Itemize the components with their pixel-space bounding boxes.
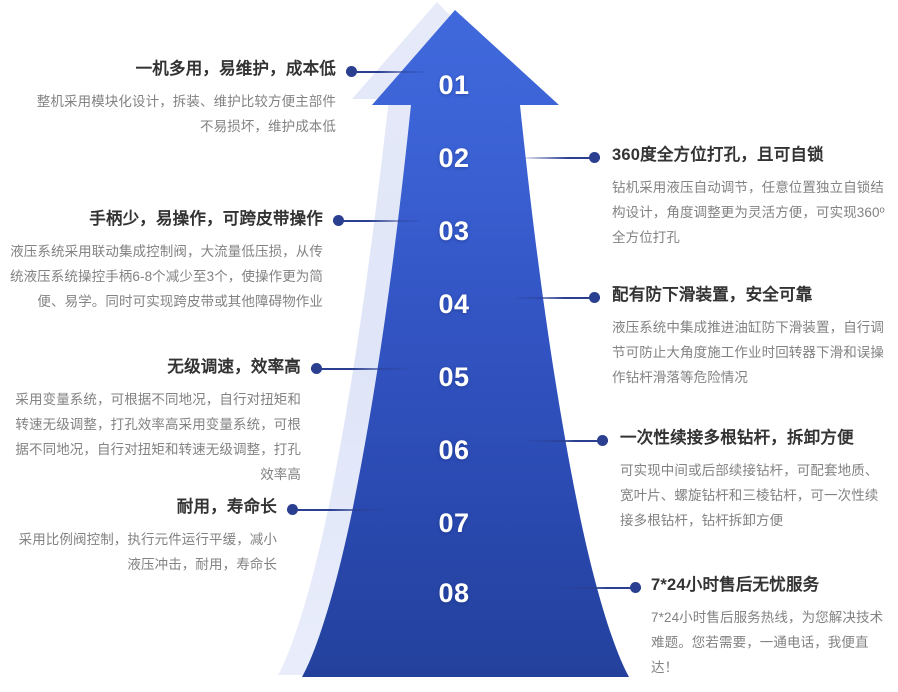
step-number-03: 03 xyxy=(404,216,504,247)
feature-title-08: 7*24小时售后无忧服务 xyxy=(651,574,888,596)
connector-line-01 xyxy=(346,71,424,73)
feature-title-06: 一次性续接多根钻杆，拆卸方便 xyxy=(620,427,888,449)
feature-title-05: 无级调速，效率高 xyxy=(8,356,301,378)
connector-dot-04 xyxy=(589,292,600,303)
connector-step-06 xyxy=(529,435,608,446)
step-number-07: 07 xyxy=(404,508,504,539)
connector-line-03 xyxy=(333,220,419,222)
connector-step-02 xyxy=(524,152,600,163)
feature-block-01: 一机多用，易维护，成本低 整机采用模块化设计，拆装、维护比较方便主部件不易损坏，… xyxy=(30,58,336,139)
connector-dot-03 xyxy=(333,215,344,226)
feature-title-07: 耐用，寿命长 xyxy=(8,496,277,518)
feature-block-05: 无级调速，效率高 采用变量系统，可根据不同地况，自行对扭矩和转速无级调整，打孔效… xyxy=(8,356,301,487)
connector-dot-02 xyxy=(589,152,600,163)
feature-block-02: 360度全方位打孔，且可自锁 钻机采用液压自动调节，任意位置独立自锁结构设计，角… xyxy=(612,144,890,250)
connector-step-04 xyxy=(516,292,600,303)
feature-body-01: 整机采用模块化设计，拆装、维护比较方便主部件不易损坏，维护成本低 xyxy=(30,89,336,139)
connector-step-08 xyxy=(558,582,641,593)
connector-line-08 xyxy=(558,587,641,589)
connector-step-03 xyxy=(333,215,419,226)
connector-line-05 xyxy=(311,368,409,370)
feature-title-02: 360度全方位打孔，且可自锁 xyxy=(612,144,890,166)
feature-body-03: 液压系统采用联动集成控制阀，大流量低压损，从传统液压系统操控手柄6-8个减少至3… xyxy=(8,239,323,314)
connector-dot-07 xyxy=(287,504,298,515)
connector-dot-06 xyxy=(597,435,608,446)
feature-title-01: 一机多用，易维护，成本低 xyxy=(30,58,336,80)
connector-dot-05 xyxy=(311,363,322,374)
feature-block-08: 7*24小时售后无忧服务 7*24小时售后服务热线，为您解决技术难题。您若需要，… xyxy=(651,574,888,680)
feature-body-02: 钻机采用液压自动调节，任意位置独立自锁结构设计，角度调整更为灵活方便，可实现36… xyxy=(612,175,890,250)
feature-body-04: 液压系统中集成推进油缸防下滑装置，自行调节可防止大角度施工作业时回转器下滑和误操… xyxy=(612,315,890,390)
step-number-08: 08 xyxy=(404,578,504,609)
step-number-05: 05 xyxy=(404,362,504,393)
feature-body-08: 7*24小时售后服务热线，为您解决技术难题。您若需要，一通电话，我便直达！ xyxy=(651,605,888,680)
connector-step-07 xyxy=(287,504,391,515)
feature-body-06: 可实现中间或后部续接钻杆，可配套地质、宽叶片、螺旋钻杆和三棱钻杆，可一次性续接多… xyxy=(620,458,888,533)
feature-title-03: 手柄少，易操作，可跨皮带操作 xyxy=(8,208,323,230)
feature-block-03: 手柄少，易操作，可跨皮带操作 液压系统采用联动集成控制阀，大流量低压损，从传统液… xyxy=(8,208,323,314)
connector-line-07 xyxy=(287,509,391,511)
connector-dot-01 xyxy=(346,66,357,77)
step-number-06: 06 xyxy=(404,435,504,466)
connector-line-04 xyxy=(516,297,600,299)
connector-step-05 xyxy=(311,363,409,374)
connector-step-01 xyxy=(346,66,424,77)
feature-body-07: 采用比例阀控制，执行元件运行平缓，减小液压冲击，耐用，寿命长 xyxy=(8,527,277,577)
feature-block-07: 耐用，寿命长 采用比例阀控制，执行元件运行平缓，减小液压冲击，耐用，寿命长 xyxy=(8,496,277,577)
step-number-02: 02 xyxy=(404,143,504,174)
step-number-04: 04 xyxy=(404,289,504,320)
feature-block-04: 配有防下滑装置，安全可靠 液压系统中集成推进油缸防下滑装置，自行调节可防止大角度… xyxy=(612,284,890,390)
infographic-canvas: 01 02 03 04 05 06 07 08 一机多用，易维护，成本低 整机 xyxy=(0,0,898,692)
feature-body-05: 采用变量系统，可根据不同地况，自行对扭矩和转速无级调整，打孔效率高采用变量系统，… xyxy=(8,387,301,487)
connector-dot-08 xyxy=(630,582,641,593)
feature-title-04: 配有防下滑装置，安全可靠 xyxy=(612,284,890,306)
feature-block-06: 一次性续接多根钻杆，拆卸方便 可实现中间或后部续接钻杆，可配套地质、宽叶片、螺旋… xyxy=(620,427,888,533)
arrow-body-shape xyxy=(302,10,629,677)
